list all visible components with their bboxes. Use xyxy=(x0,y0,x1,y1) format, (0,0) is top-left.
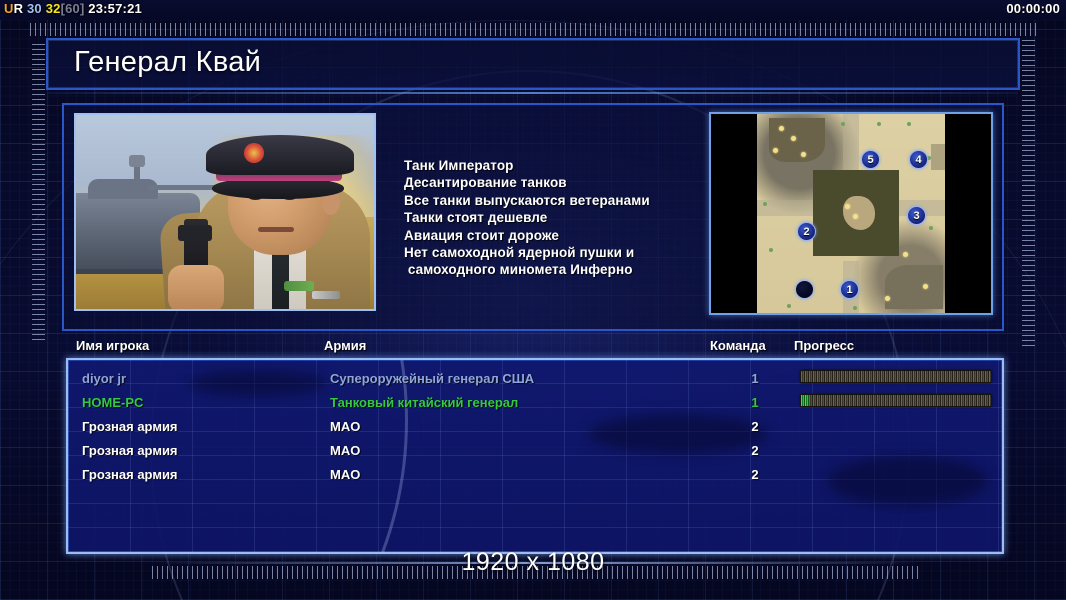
player-team-cell: 1 xyxy=(740,371,770,386)
minimap-spawn-marker-1[interactable]: 1 xyxy=(840,280,859,299)
minimap-foliage xyxy=(787,304,791,308)
player-name-cell: HOME-PC xyxy=(82,395,143,410)
minimap-foliage xyxy=(929,226,933,230)
status-timer: 00:00:00 xyxy=(1006,1,1060,16)
title-underline xyxy=(48,92,1018,94)
progress-bar-fill xyxy=(801,395,809,406)
ability-line-5: Авиация стоит дороже xyxy=(404,227,734,244)
portrait-hand xyxy=(168,265,224,311)
minimap-spawn-marker-3[interactable]: 3 xyxy=(907,206,926,225)
player-army-cell: Супероружейный генерал США xyxy=(330,371,534,386)
player-progress-cell xyxy=(800,370,992,383)
column-header-team: Команда xyxy=(710,338,766,353)
top-status-bar: UR 30 32[60] 23:57:21 00:00:00 xyxy=(0,0,1066,20)
ability-line-3: Все танки выпускаются ветеранами xyxy=(404,192,734,209)
minimap-pillarbox-right xyxy=(945,114,991,313)
player-army-cell: MAO xyxy=(330,467,360,482)
ruler-ticks-right xyxy=(1022,36,1035,346)
minimap-terrain-se xyxy=(885,265,943,309)
player-army-cell: Танковый китайский генерал xyxy=(330,395,518,410)
minimap-resource xyxy=(845,204,850,209)
player-name-cell: Грозная армия xyxy=(82,419,178,434)
player-table-header: Имя игрока Армия Команда Прогресс xyxy=(62,338,1004,358)
player-progress-cell xyxy=(800,394,992,407)
minimap-foliage xyxy=(907,122,911,126)
minimap-center-plateau xyxy=(813,170,899,256)
general-portrait xyxy=(74,113,376,311)
table-row[interactable]: diyor jrСупероружейный генерал США1 xyxy=(68,366,1004,390)
portrait-mouth xyxy=(258,227,294,232)
player-name-cell: Грозная армия xyxy=(82,443,178,458)
minimap-resource xyxy=(791,136,796,141)
portrait-medal-silver xyxy=(312,291,340,299)
minimap-resource xyxy=(779,126,784,131)
status-u-label: U xyxy=(4,1,14,16)
minimap-terrain-nw xyxy=(769,118,825,162)
portrait-cap-badge-icon xyxy=(244,143,264,163)
minimap-spawn-marker-empty[interactable] xyxy=(795,280,814,299)
minimap-foliage xyxy=(877,122,881,126)
minimap-frame: 54321 xyxy=(709,112,993,315)
minimap-center-island xyxy=(843,196,875,230)
player-team-cell: 2 xyxy=(740,443,770,458)
resolution-label: 1920 x 1080 xyxy=(0,548,1066,577)
ability-line-2: Десантирование танков xyxy=(404,174,734,191)
title-panel: Генерал Квай xyxy=(46,38,1020,90)
minimap-spawn-marker-4[interactable]: 4 xyxy=(909,150,928,169)
status-value-b: [60] xyxy=(61,1,85,16)
minimap-resource xyxy=(885,296,890,301)
progress-bar xyxy=(800,370,992,383)
table-row[interactable]: HOME-PCТанковый китайский генерал1 xyxy=(68,390,1004,414)
minimap-pillarbox-left xyxy=(711,114,757,313)
player-list-panel: diyor jrСупероружейный генерал США1HOME-… xyxy=(66,358,1004,554)
page-title: Генерал Квай xyxy=(74,46,261,79)
player-name-cell: Грозная армия xyxy=(82,467,178,482)
minimap-foliage xyxy=(769,248,773,252)
player-army-cell: MAO xyxy=(330,443,360,458)
game-loading-screen: UR 30 32[60] 23:57:21 00:00:00 Генерал К… xyxy=(0,0,1066,600)
minimap-resource xyxy=(903,252,908,257)
ability-line-1: Танк Император xyxy=(404,157,734,174)
status-clock: 23:57:21 xyxy=(88,1,142,16)
column-header-player-name: Имя игрока xyxy=(76,338,149,353)
player-team-cell: 2 xyxy=(740,467,770,482)
minimap-road-north xyxy=(843,114,859,170)
table-row[interactable]: Грозная армияMAO2 xyxy=(68,462,1004,486)
portrait-medal-green xyxy=(284,281,314,291)
minimap-resource xyxy=(773,148,778,153)
ability-line-7: самоходного миномета Инферно xyxy=(404,261,734,278)
status-left-group: UR 30 32[60] 23:57:21 xyxy=(4,1,142,16)
column-header-progress: Прогресс xyxy=(794,338,854,353)
table-row[interactable]: Грозная армияMAO2 xyxy=(68,438,1004,462)
player-team-cell: 1 xyxy=(740,395,770,410)
minimap-foliage xyxy=(853,306,857,310)
player-army-cell: MAO xyxy=(330,419,360,434)
status-value-a: 32 xyxy=(46,1,61,16)
table-row[interactable]: Грозная армияMAO2 xyxy=(68,414,1004,438)
minimap-foliage xyxy=(841,122,845,126)
minimap-resource xyxy=(853,214,858,219)
ruler-ticks-top xyxy=(30,23,1040,36)
minimap-resource xyxy=(801,152,806,157)
ability-line-4: Танки стоят дешевле xyxy=(404,209,734,226)
player-team-cell: 2 xyxy=(740,419,770,434)
column-header-army: Армия xyxy=(324,338,366,353)
briefing-frame: Танк Император Десантирование танков Все… xyxy=(62,103,1004,331)
minimap-resource xyxy=(923,284,928,289)
ability-line-6: Нет самоходной ядерной пушки и xyxy=(404,244,734,261)
player-name-cell: diyor jr xyxy=(82,371,126,386)
progress-bar xyxy=(800,394,992,407)
status-r-label: R xyxy=(14,1,24,16)
minimap-spawn-marker-2[interactable]: 2 xyxy=(797,222,816,241)
ruler-ticks-left xyxy=(32,40,45,340)
minimap-spawn-marker-5[interactable]: 5 xyxy=(861,150,880,169)
portrait-cap-crown xyxy=(206,135,354,175)
status-fps-value: 30 xyxy=(27,1,42,16)
general-ability-list: Танк Император Десантирование танков Все… xyxy=(404,157,734,279)
minimap-foliage xyxy=(763,202,767,206)
